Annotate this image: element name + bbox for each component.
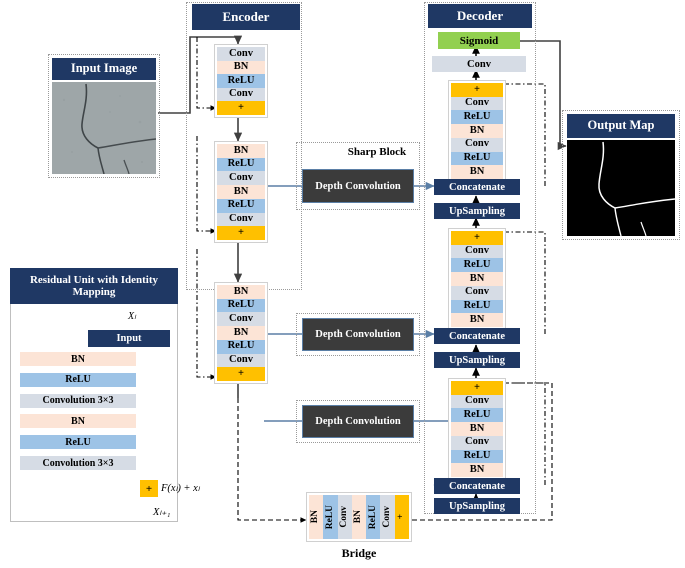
residual-layer-bn: BN [20,414,136,428]
bridge-layer-conv: Conv [338,495,352,539]
bridge-layer-relu: ReLU [323,495,337,539]
upsampling-2[interactable]: UpSampling [434,352,520,368]
layer-conv: Conv [451,97,503,111]
layer-conv: Conv [217,171,265,185]
bridge-layer-bn: BN [352,495,366,539]
encoder-block-2: BNReLUConvBNReLUConv+ [214,141,268,243]
layer-bn: BN [451,313,503,327]
bridge-layer--: + [395,495,409,539]
bridge-title: Bridge [306,546,412,561]
input-image-title: Input Image [52,58,156,80]
layer-conv: Conv [217,213,265,227]
layer-bn: BN [451,272,503,286]
residual-unit-title: Residual Unit with Identity Mapping [10,268,178,304]
layer-bn: BN [451,422,503,436]
residual-layer-relu: ReLU [20,373,136,387]
layer-: + [451,231,503,245]
layer-bn: BN [217,61,265,75]
concatenate-1[interactable]: Concatenate [434,179,520,195]
layer-conv: Conv [217,88,265,102]
layer-relu: ReLU [217,158,265,172]
layer-relu: ReLU [217,299,265,313]
bridge-layer-bn: BN [309,495,323,539]
upsampling-1[interactable]: UpSampling [434,203,520,219]
sharp-block-region-bot [296,400,420,443]
residual-input-label: Xₗ [128,311,136,322]
concatenate-3[interactable]: Concatenate [434,478,520,494]
decoder-block-1: +ConvReLUBNConvReLUBN [448,80,506,182]
diagram-canvas: Input Image Output Map Encoder [0,0,685,568]
layer-relu: ReLU [451,152,503,166]
residual-layer-bn: BN [20,352,136,366]
residual-input-box: Input [88,330,170,347]
layer-relu: ReLU [451,110,503,124]
layer-bn: BN [217,185,265,199]
decoder-block-3: +ConvReLUBNConvReLUBN [448,378,506,480]
layer-: + [451,381,503,395]
residual-layer-convolution-3-3: Convolution 3×3 [20,456,136,470]
layer-: + [217,367,265,381]
decoder-output-conv[interactable]: Conv [432,56,526,72]
residual-layer-stack: BNReLUConvolution 3×3BNReLUConvolution 3… [20,352,136,470]
layer-bn: BN [217,285,265,299]
sharp-block-region-top [296,142,420,210]
layer-conv: Conv [217,354,265,368]
layer-conv: Conv [217,47,265,61]
layer-relu: ReLU [451,450,503,464]
layer-conv: Conv [451,245,503,259]
layer-relu: ReLU [451,258,503,272]
residual-layer-convolution-3-3: Convolution 3×3 [20,394,136,408]
decoder-title: Decoder [428,4,532,28]
bridge-layer-conv: Conv [380,495,394,539]
layer-relu: ReLU [451,408,503,422]
layer-relu: ReLU [217,340,265,354]
encoder-title: Encoder [192,4,300,30]
layer-: + [217,226,265,240]
residual-output-label: Xₗ₊₁ [153,506,170,518]
layer-bn: BN [451,165,503,179]
input-image-thumbnail [52,82,156,174]
layer-conv: Conv [451,436,503,450]
layer-relu: ReLU [217,74,265,88]
upsampling-3[interactable]: UpSampling [434,498,520,514]
bridge-layer-relu: ReLU [366,495,380,539]
layer-bn: BN [451,463,503,477]
output-map-title: Output Map [567,114,675,138]
concatenate-2[interactable]: Concatenate [434,328,520,344]
layer-bn: BN [217,326,265,340]
residual-sum-label: F(xₗ) + xₗ [161,482,200,494]
layer-bn: BN [451,124,503,138]
bridge-block: BNReLUConvBNReLUConv+ [306,492,412,542]
layer-: + [217,101,265,115]
layer-conv: Conv [451,138,503,152]
layer-conv: Conv [451,395,503,409]
layer-conv: Conv [217,312,265,326]
layer-relu: ReLU [451,300,503,314]
encoder-block-3: BNReLUConvBNReLUConv+ [214,282,268,384]
decoder-block-2: +ConvReLUBNConvReLUBN [448,228,506,330]
sharp-block-region-mid [296,313,420,356]
encoder-block-1: ConvBNReLUConv+ [214,44,268,118]
sigmoid-block[interactable]: Sigmoid [438,32,520,49]
layer-relu: ReLU [217,199,265,213]
layer-bn: BN [217,144,265,158]
layer-conv: Conv [451,286,503,300]
residual-layer-relu: ReLU [20,435,136,449]
residual-add-node: + [140,480,158,497]
layer-: + [451,83,503,97]
output-map-thumbnail [567,140,675,236]
